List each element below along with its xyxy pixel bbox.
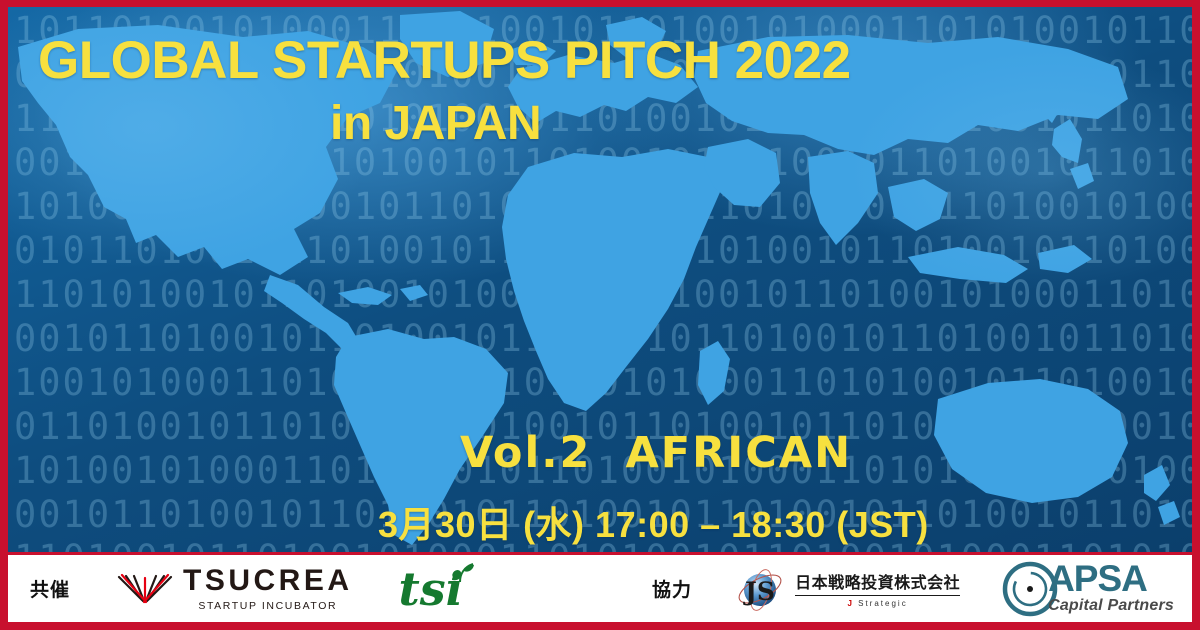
volume-number: Vol.2 — [460, 428, 591, 478]
cohost-label: 共催 — [30, 575, 70, 602]
tsucrea-mark-icon — [116, 572, 174, 606]
sponsor-logo-bar: 共催 TSUCREA STARTUP INCUBATOR — [8, 555, 1192, 622]
volume-region-heading: Vol.2AFRICAN — [460, 428, 852, 478]
logo-j-strategic: JS 日本戦略投資株式会社 J Strategic — [736, 566, 960, 612]
j-strategic-en-accent: J — [847, 599, 853, 608]
apsa-wordmark: APSA — [1048, 562, 1147, 596]
j-strategic-jp-name: 日本戦略投資株式会社 — [795, 569, 960, 596]
logo-tsucrea: TSUCREA STARTUP INCUBATOR — [116, 566, 353, 612]
tsucrea-tagline: STARTUP INCUBATOR — [198, 600, 337, 612]
event-poster: 1011010010100011010100101101001010001101… — [0, 0, 1200, 630]
logo-tsi: tsi — [399, 566, 464, 612]
apsa-tagline: Capital Partners — [1048, 597, 1174, 615]
page-title-line1: GLOBAL STARTUPS PITCH 2022 — [38, 30, 851, 91]
page-title-line2: in JAPAN — [330, 96, 541, 151]
tsi-leaf-icon — [446, 562, 476, 586]
tsucrea-wordmark: TSUCREA — [183, 566, 353, 596]
region-name: AFRICAN — [625, 428, 852, 478]
svg-text:JS: JS — [743, 577, 775, 606]
support-label: 協力 — [652, 575, 692, 602]
j-strategic-globe-icon: JS — [736, 566, 788, 612]
j-strategic-en-name: J Strategic — [847, 599, 907, 608]
event-datetime: 3月30日 (水) 17:00 – 18:30 (JST) — [378, 496, 929, 548]
logo-apsa: APSA Capital Partners — [1000, 560, 1174, 618]
